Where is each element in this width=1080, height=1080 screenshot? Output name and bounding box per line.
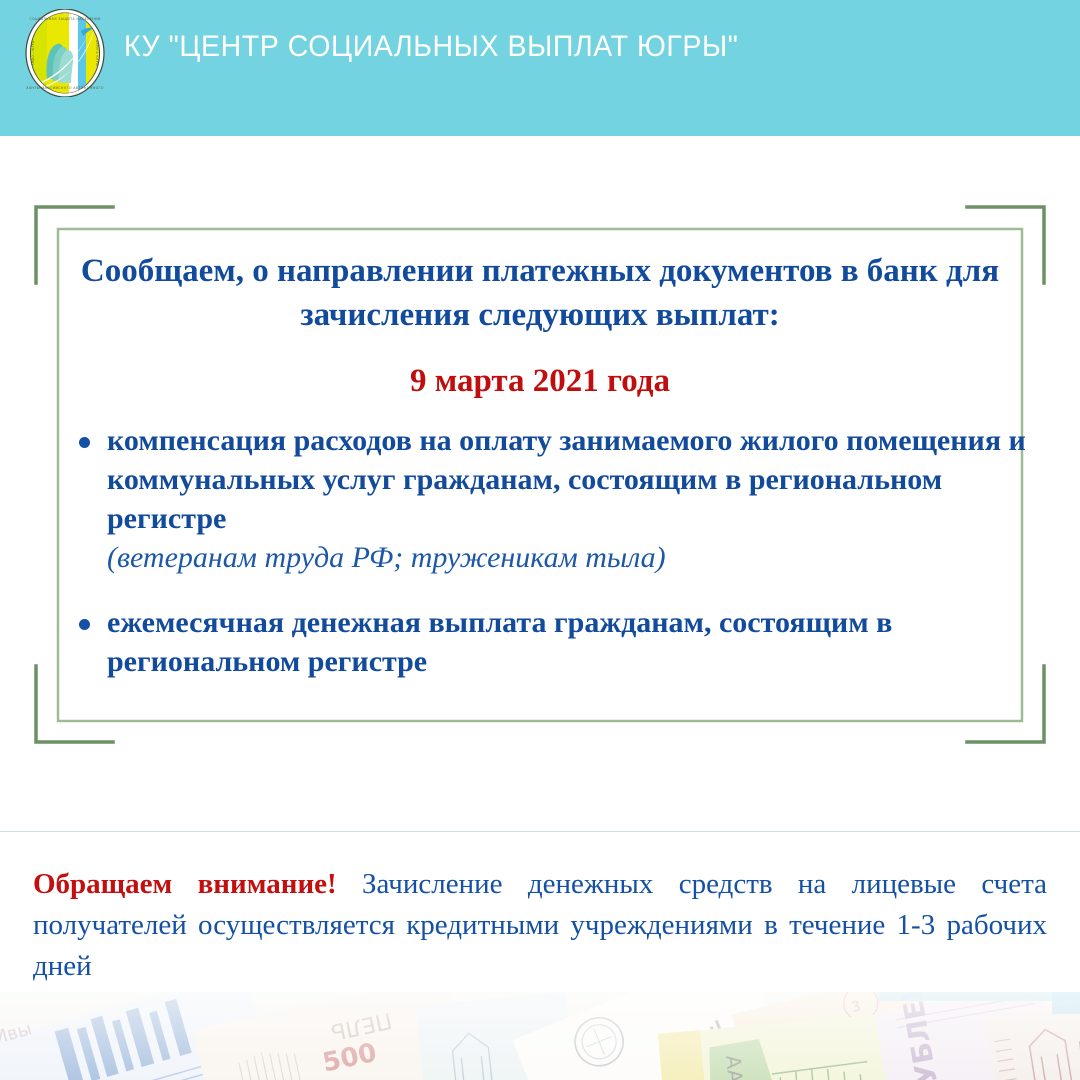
- payments-list: компенсация расходов на оплату занимаемо…: [52, 421, 1028, 681]
- section-divider: [0, 831, 1080, 832]
- banknotes-photo-strip: д Ивы 500 ПЕЛЬ: [0, 992, 1080, 1080]
- list-item-label: ежемесячная денежная выплата гражданам, …: [107, 603, 1028, 681]
- payment-date: 9 марта 2021 года: [52, 360, 1028, 403]
- announcement-headline: Сообщаем, о направлении платежных докуме…: [52, 250, 1028, 338]
- svg-text:ХАНТЫ-МАНСИЙСКОГО АВТОНОМНОГО: ХАНТЫ-МАНСИЙСКОГО АВТОНОМНОГО: [26, 85, 104, 90]
- list-item: компенсация расходов на оплату занимаемо…: [52, 421, 1028, 577]
- list-item: ежемесячная денежная выплата гражданам, …: [52, 603, 1028, 681]
- organization-title: КУ "ЦЕНТР СОЦИАЛЬНЫХ ВЫПЛАТ ЮГРЫ": [124, 30, 738, 63]
- svg-text:ХМАО - ЮГРА: ХМАО - ЮГРА: [31, 40, 35, 66]
- logo-icon: СОЦИАЛЬНАЯ ЗАЩИТА НАСЕЛЕНИЯ ХАНТЫ-МАНСИЙ…: [21, 9, 109, 97]
- list-item-note: (ветеранам труда РФ; труженикам тыла): [107, 538, 1028, 577]
- banknotes-illustration: д Ивы 500 ПЕЛЬ: [0, 992, 1080, 1080]
- svg-text:ОКРУГА ЮГРЫ: ОКРУГА ЮГРЫ: [95, 40, 99, 67]
- bullet-dot-icon: [79, 619, 90, 630]
- site-header: СОЦИАЛЬНАЯ ЗАЩИТА НАСЕЛЕНИЯ ХАНТЫ-МАНСИЙ…: [0, 0, 1080, 136]
- attention-notice: Обращаем внимание! Зачисление денежных с…: [33, 864, 1047, 988]
- svg-text:СОЦИАЛЬНАЯ ЗАЩИТА НАСЕЛЕНИЯ: СОЦИАЛЬНАЯ ЗАЩИТА НАСЕЛЕНИЯ: [29, 17, 100, 21]
- organization-logo: СОЦИАЛЬНАЯ ЗАЩИТА НАСЕЛЕНИЯ ХАНТЫ-МАНСИЙ…: [21, 9, 109, 97]
- list-item-label: компенсация расходов на оплату занимаемо…: [107, 421, 1028, 538]
- bullet-dot-icon: [79, 437, 90, 448]
- announcement-card: Сообщаем, о направлении платежных докуме…: [52, 250, 1028, 681]
- notice-lead-label: Обращаем внимание!: [33, 868, 337, 900]
